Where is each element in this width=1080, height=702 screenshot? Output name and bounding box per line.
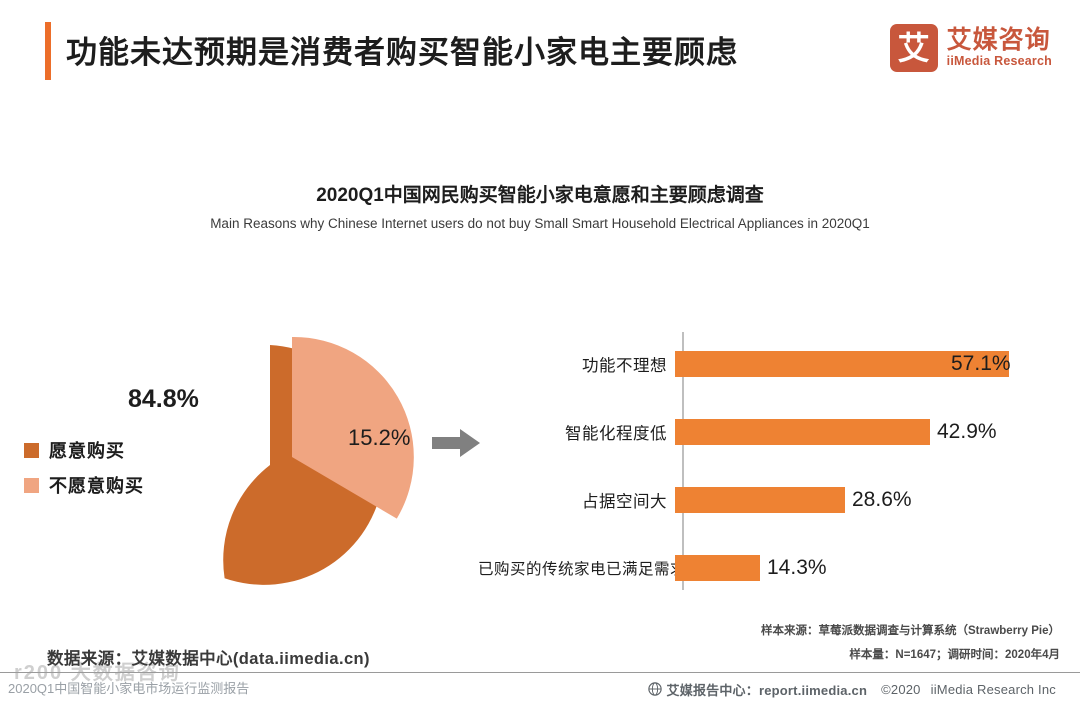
right-arrow-icon <box>430 427 482 459</box>
legend-item-unwilling: 不愿意购买 <box>24 472 144 498</box>
bar-shape <box>675 419 930 445</box>
brand-name-cn: 艾媒咨询 <box>947 27 1052 54</box>
chart-subtitle: Main Reasons why Chinese Internet users … <box>0 216 1080 231</box>
bar-value-label: 42.9% <box>937 420 997 444</box>
page-header: 功能未达预期是消费者购买智能小家电主要顾虑 艾 艾媒咨询 iiMedia Res… <box>0 0 1080 104</box>
footer-company: iiMedia Research Inc <box>931 682 1056 697</box>
pie-label-unwilling: 15.2% <box>348 425 410 451</box>
brand-name-en: iiMedia Research <box>947 54 1052 69</box>
bar-category-label: 功能不理想 <box>520 352 675 376</box>
bar-row: 占据空间大 28.6% <box>520 478 1080 522</box>
page-footer: 艾媒报告中心：report.iimedia.cn ©2020 iiMedia R… <box>0 676 1080 702</box>
sample-source-text: 样本来源：草莓派数据调查与计算系统（Strawberry Pie） <box>761 622 1060 638</box>
iimedia-logo-icon: 艾 <box>890 24 938 72</box>
bar-shape-wrap: 42.9% <box>675 419 1080 445</box>
bar-row: 智能化程度低 42.9% <box>520 410 1080 454</box>
bar-shape <box>675 555 760 581</box>
footer-report-center[interactable]: 艾媒报告中心：report.iimedia.cn <box>667 680 868 699</box>
bar-chart: 功能不理想 57.1% 智能化程度低 42.9% 占据空间大 28.6% 已购买… <box>520 332 1080 602</box>
bar-category-label: 占据空间大 <box>520 488 675 512</box>
pie-label-willing: 84.8% <box>128 385 199 414</box>
legend-label-unwilling: 不愿意购买 <box>49 472 144 498</box>
footer-copyright: ©2020 <box>881 682 921 697</box>
bar-value-label: 28.6% <box>852 488 912 512</box>
bar-category-label: 智能化程度低 <box>520 420 675 444</box>
pie-legend: 愿意购买 不愿意购买 <box>24 437 144 507</box>
bar-value-label: 14.3% <box>767 556 827 580</box>
header-accent-bar <box>45 22 51 80</box>
chart-title: 2020Q1中国网民购买智能小家电意愿和主要顾虑调查 <box>0 180 1080 207</box>
legend-item-willing: 愿意购买 <box>24 437 144 463</box>
bar-shape <box>675 487 845 513</box>
bar-shape-wrap: 14.3% <box>675 555 1080 581</box>
bar-value-label: 57.1% <box>951 352 1011 376</box>
legend-swatch-willing <box>24 443 39 458</box>
legend-label-willing: 愿意购买 <box>49 437 125 463</box>
footer-divider <box>0 672 1080 673</box>
page-title: 功能未达预期是消费者购买智能小家电主要顾虑 <box>66 27 738 72</box>
bar-row: 已购买的传统家电已满足需求 14.3% <box>520 546 1080 590</box>
sample-size-text: 样本量：N=1647；调研时间：2020年4月 <box>849 646 1060 662</box>
bar-row: 功能不理想 57.1% <box>520 342 1080 386</box>
brand-logo: 艾 艾媒咨询 iiMedia Research <box>890 24 1052 72</box>
bar-shape-wrap: 57.1% <box>675 351 1080 377</box>
legend-swatch-unwilling <box>24 478 39 493</box>
bar-category-label: 已购买的传统家电已满足需求 <box>478 557 633 579</box>
brand-wordmark: 艾媒咨询 iiMedia Research <box>947 27 1052 69</box>
bar-shape-wrap: 28.6% <box>675 487 1080 513</box>
data-source-text: 数据来源：艾媒数据中心(data.iimedia.cn) <box>47 645 370 669</box>
globe-icon <box>648 682 662 696</box>
